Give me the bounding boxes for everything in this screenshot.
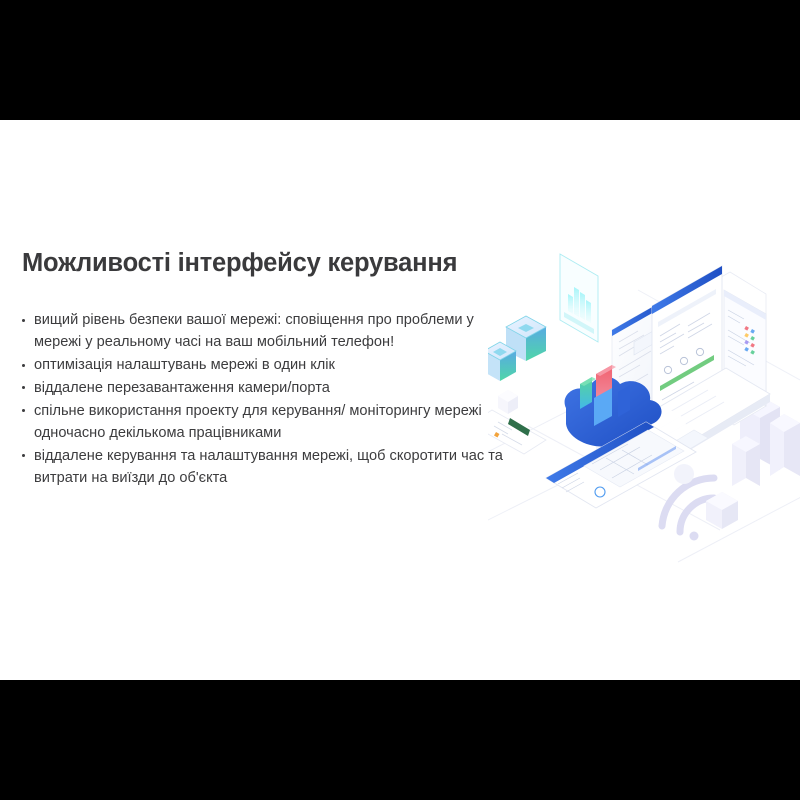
bullet-dot-icon <box>22 319 25 322</box>
bullet-dot-icon <box>22 409 25 412</box>
slide-canvas: Можливості інтерфейсу керування вищий рі… <box>0 120 800 680</box>
bullet-dot-icon <box>22 386 25 389</box>
isometric-network-management-illustration <box>488 230 800 575</box>
wifi-dot-icon <box>690 532 699 541</box>
list-item: віддалене перезавантаження камери/порта <box>14 377 514 399</box>
letterbox-bottom <box>0 680 800 800</box>
list-item-text: оптимізація налаштувань мережі в один кл… <box>34 357 335 373</box>
list-item: віддалене керування та налаштування мере… <box>14 445 514 490</box>
sphere-prop <box>674 464 694 484</box>
list-item-text: спільне використання проекту для керуван… <box>34 403 482 441</box>
list-item: вищий рівень безпеки вашої мережі: спові… <box>14 309 514 354</box>
list-item: спільне використання проекту для керуван… <box>14 400 514 445</box>
bullet-dot-icon <box>22 454 25 457</box>
slide-frame: Можливості інтерфейсу керування вищий рі… <box>0 0 800 800</box>
page-title: Можливості інтерфейсу керування <box>22 249 492 278</box>
list-item-text: віддалене перезавантаження камери/порта <box>34 380 330 396</box>
letterbox-top <box>0 0 800 120</box>
list-item-text: віддалене керування та налаштування мере… <box>34 448 503 486</box>
cube-prop <box>498 390 518 414</box>
feature-bullet-list: вищий рівень безпеки вашої мережі: спові… <box>14 309 514 490</box>
hologram-chart-panel <box>560 254 598 342</box>
list-item: оптимізація налаштувань мережі в один кл… <box>14 354 514 376</box>
bullet-dot-icon <box>22 364 25 367</box>
text-column: Можливості інтерфейсу керування вищий рі… <box>0 120 520 680</box>
list-item-text: вищий рівень безпеки вашої мережі: спові… <box>34 312 474 350</box>
